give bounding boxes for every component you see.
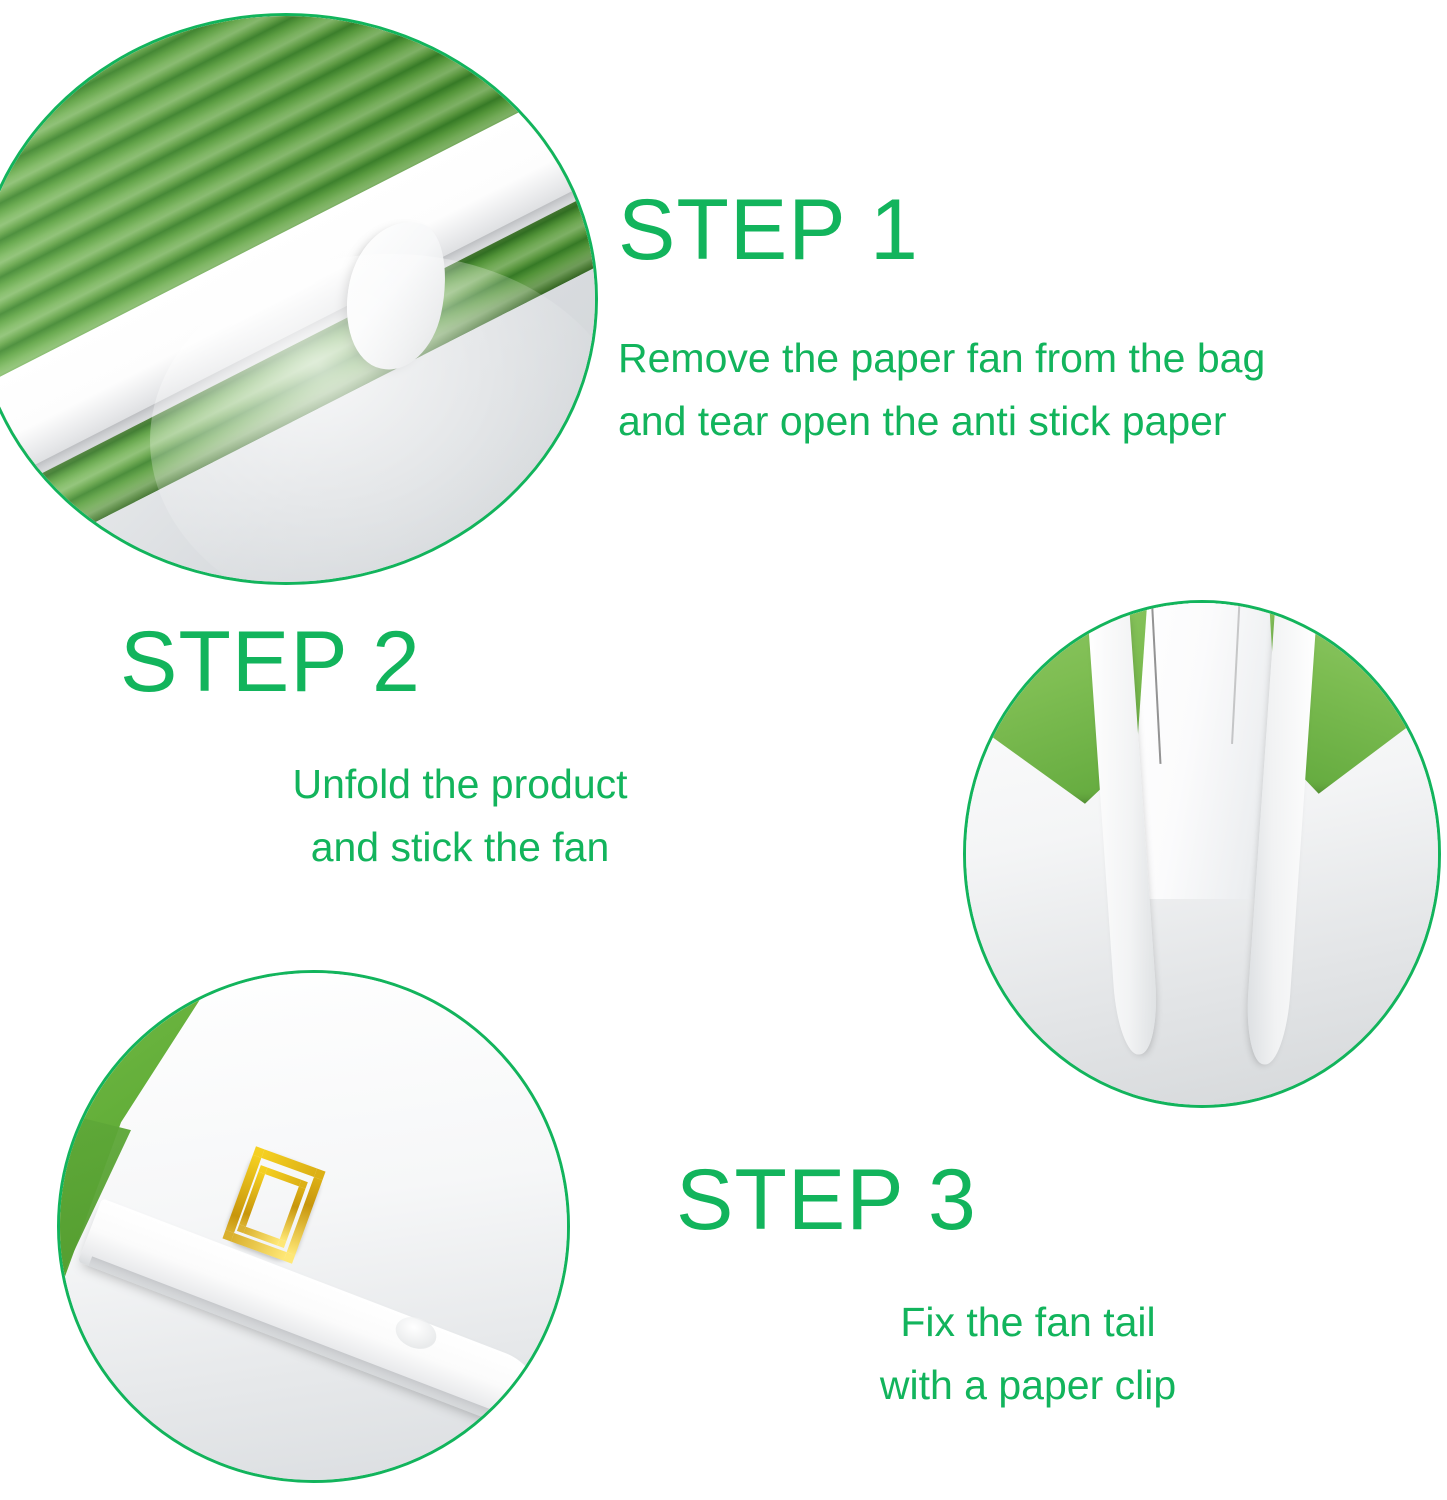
photo-step-2: [963, 600, 1441, 1108]
step-1-title: STEP 1: [618, 186, 1265, 275]
step-3-text-block: STEP 3 Fix the fan tail with a paper cli…: [668, 1156, 1388, 1416]
photo-step-2-content: [966, 603, 1438, 1105]
step-3-title: STEP 3: [676, 1156, 1388, 1245]
photo-step-3: [57, 970, 570, 1483]
photo-step-1-content: [0, 16, 595, 582]
photo-step-3-content: [60, 973, 567, 1480]
step-2-title: STEP 2: [120, 618, 810, 707]
step-1-line-1: Remove the paper fan from the bag: [618, 327, 1265, 389]
photo-step-1: [0, 13, 598, 585]
step-1-text-block: STEP 1 Remove the paper fan from the bag…: [618, 186, 1265, 452]
step-2-text-block: STEP 2 Unfold the product and stick the …: [110, 618, 810, 878]
step-2-line-2: and stick the fan: [110, 816, 810, 878]
step-1-line-2: and tear open the anti stick paper: [618, 390, 1265, 452]
step-3-line-2: with a paper clip: [668, 1354, 1388, 1416]
step-2-line-1: Unfold the product: [110, 753, 810, 815]
instruction-graphic: STEP 1 Remove the paper fan from the bag…: [0, 0, 1447, 1500]
step-3-line-1: Fix the fan tail: [668, 1291, 1388, 1353]
